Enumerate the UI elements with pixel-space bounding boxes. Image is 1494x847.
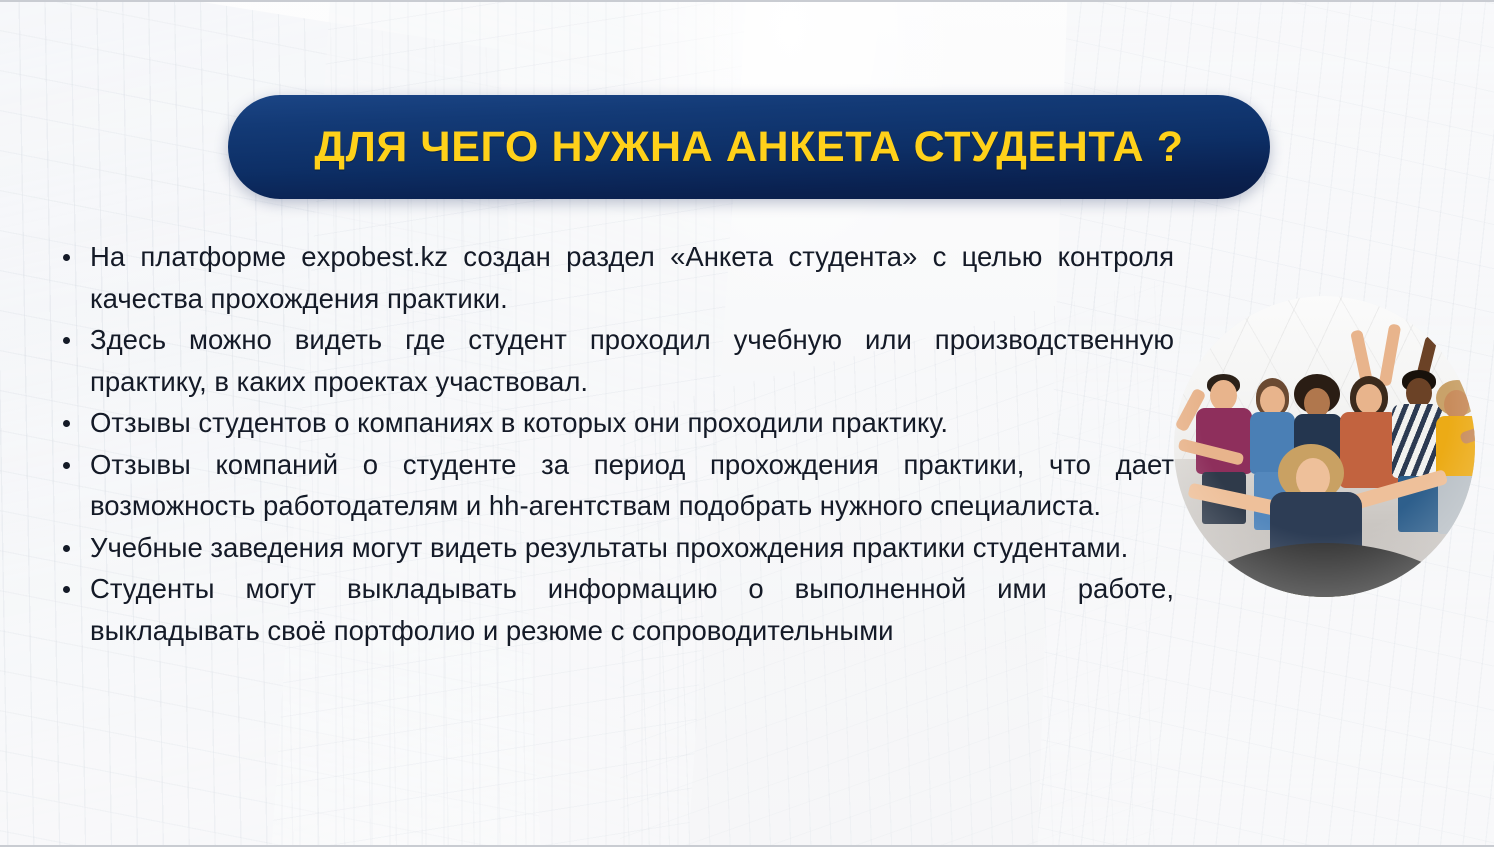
list-item: На платформе expobest.kz создан раздел «… [52, 236, 1174, 319]
list-item: Учебные заведения могут видеть результат… [52, 527, 1174, 569]
bullet-list: На платформе expobest.kz создан раздел «… [52, 236, 1174, 651]
slide-top-border [0, 0, 1494, 2]
list-item: Отзывы компаний о студенте за период про… [52, 444, 1174, 527]
list-item: Здесь можно видеть где студент проходил … [52, 319, 1174, 402]
slide-canvas: ДЛЯ ЧЕГО НУЖНА АНКЕТА СТУДЕНТА ? На плат… [0, 0, 1494, 847]
page-title: ДЛЯ ЧЕГО НУЖНА АНКЕТА СТУДЕНТА ? [314, 123, 1183, 172]
slide-title-banner: ДЛЯ ЧЕГО НУЖНА АНКЕТА СТУДЕНТА ? [228, 95, 1270, 199]
list-item: Отзывы студентов о компаниях в которых о… [52, 402, 1174, 444]
group-of-happy-students-photo [1174, 296, 1475, 597]
photo-content [1174, 296, 1475, 597]
list-item: Студенты могут выкладывать информацию о … [52, 568, 1174, 651]
